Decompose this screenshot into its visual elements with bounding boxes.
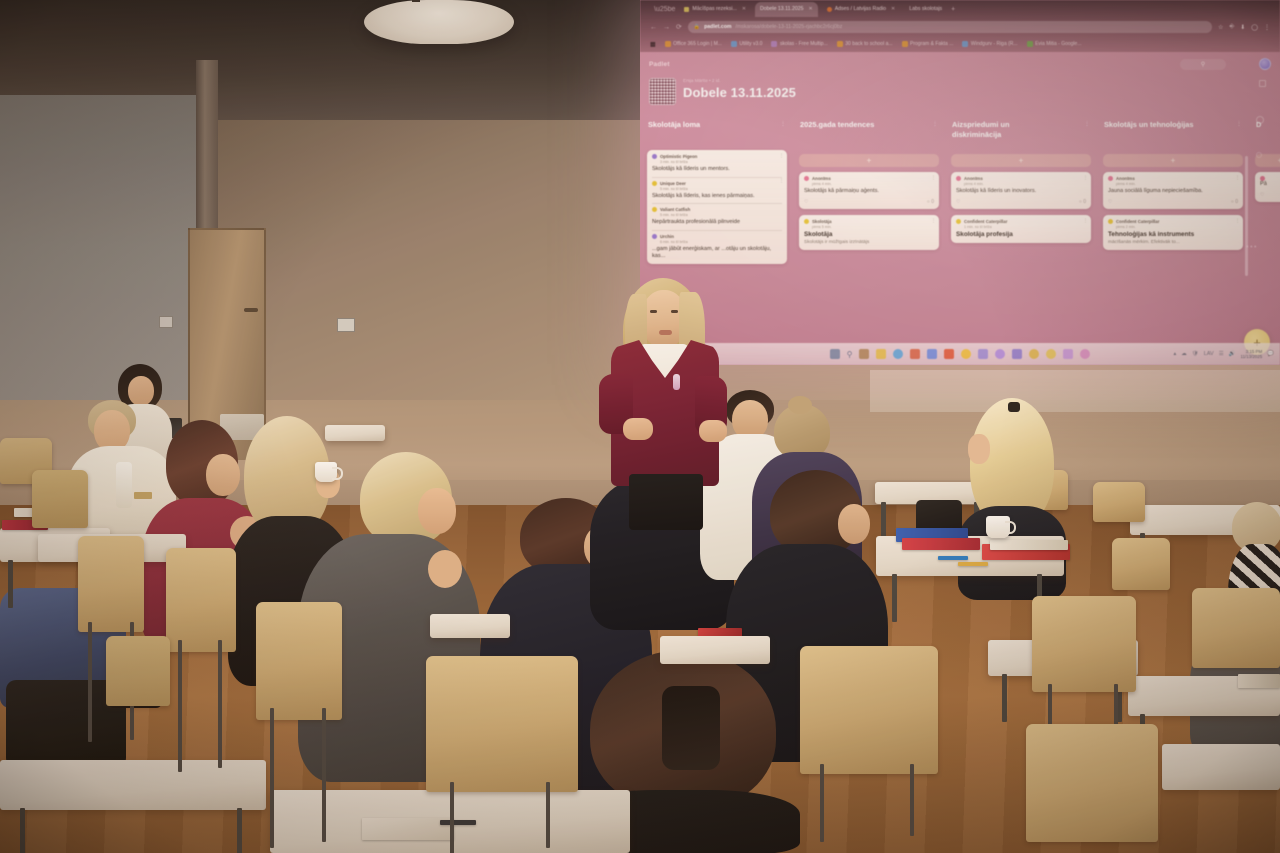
close-icon[interactable]: ✕ — [742, 6, 746, 12]
chair — [256, 602, 342, 720]
forward-icon[interactable]: → — [663, 24, 670, 31]
card-author: Skolotāja — [812, 219, 832, 224]
card-timestamp: pirms 4 min. — [964, 182, 1086, 186]
card-author: Anonīms — [812, 176, 831, 181]
add-card-button[interactable]: + — [1103, 154, 1243, 167]
downloads-icon[interactable]: ⬇ — [1240, 24, 1245, 31]
card-menu-icon[interactable]: ⋮ — [1083, 175, 1088, 181]
music-icon[interactable] — [1063, 349, 1073, 359]
card-timestamp: pirms 4 min. — [812, 182, 934, 186]
volume-icon[interactable]: 🔊 — [1229, 351, 1236, 357]
author-avatar — [652, 181, 657, 186]
column-menu-icon[interactable]: ⋮ — [1236, 120, 1242, 127]
reload-icon[interactable]: ⟳ — [676, 23, 682, 31]
author-avatar — [652, 234, 657, 239]
language-icon[interactable]: LAV — [1204, 351, 1214, 357]
padlet-column-1: 2025.gada tendences ⋮ + ⋮ Anonīms pirms … — [796, 120, 942, 365]
bookmark-0[interactable]: Office 365 Login | M... — [665, 41, 722, 47]
padlet-card[interactable]: ⋮ Skolotāja pirms 5 min. Skolotāja Skolo… — [799, 215, 939, 251]
padlet-card[interactable]: ⋮ Confident Caterpillar 1 min. no šī brī… — [951, 215, 1091, 243]
chair — [1192, 588, 1280, 668]
bookmarks-bar: ▦ Office 365 Login | M... Utility v3.0 s… — [640, 36, 1280, 52]
card-timestamp: pirms 4 min. — [1116, 182, 1238, 186]
task-view-icon[interactable] — [859, 349, 869, 359]
extensions-icon[interactable]: ⎆ — [1229, 24, 1234, 31]
chrome-actions: ☆ ⎆ ⬇ ◯ ⋮ — [1218, 24, 1270, 31]
add-card-button[interactable]: + — [1255, 154, 1280, 167]
card-subtitle: Skolotājs ir mūžīgais izzīnātājs — [804, 240, 934, 246]
table — [660, 636, 770, 664]
browser-chrome: \u25be Mācīšpas rezeksi... ✕ Dobele 13.1… — [640, 0, 1280, 52]
padlet-card[interactable]: ⋮ Anonīms pirms 4 min. Jauna sociālā līg… — [1103, 172, 1243, 209]
padlet-column-2: Aizspriedumi un diskriminācija ⋮ + ⋮ Ano… — [948, 120, 1094, 365]
notebook-red — [902, 538, 980, 550]
comment-count[interactable]: ○ 0 — [927, 199, 934, 205]
padlet-card[interactable]: ⋮ Anonīms pirms 4 min. Skolotājs kā līde… — [951, 172, 1091, 209]
photos-icon[interactable] — [910, 349, 920, 359]
extra-app-icon[interactable] — [1080, 349, 1090, 359]
onedrive-icon[interactable] — [1029, 349, 1039, 359]
card-body: ...gam jābūt enerģiskam, ar ...otāju un … — [652, 246, 782, 261]
presenter-right-hand — [699, 420, 727, 442]
door-handle-icon — [244, 308, 258, 312]
card-timestamp: pirms 5 min. — [812, 225, 934, 229]
card-footer: ♡ ○ 0 — [1108, 199, 1238, 205]
card-timestamp: 5 min. no šī brīža — [660, 187, 782, 191]
teams-icon[interactable] — [978, 349, 988, 359]
column-header: Aizspriedumi un diskriminācija ⋮ — [948, 120, 1094, 150]
card-title: Skolotāja — [804, 231, 934, 239]
card-title: Tehnoloģijas kā instruments — [1108, 231, 1238, 239]
bookmark-favicon — [731, 41, 737, 47]
presenter-trousers — [629, 474, 703, 530]
system-tray: ▴ ☁ 🛡 LAV ☰ 🔊 3:15 PM 11/13/2025 💬 — [1173, 343, 1274, 365]
board-title: Dobele 13.11.2025 — [683, 85, 796, 100]
chrome-icon[interactable] — [961, 349, 971, 359]
card-author-row: Anonīms — [1108, 176, 1238, 181]
card-menu-icon[interactable]: ⋮ — [931, 175, 936, 181]
bookmark-favicon — [771, 41, 777, 47]
mail-icon[interactable] — [893, 349, 903, 359]
pen — [938, 556, 968, 560]
author-avatar — [652, 207, 657, 212]
tab-favicon — [684, 7, 689, 12]
column-title: Skolotāja loma — [648, 120, 700, 130]
classroom-scene: \u25be Mācīšpas rezeksi... ✕ Dobele 13.1… — [0, 0, 1280, 853]
search-icon[interactable]: ⚲ — [847, 350, 853, 359]
author-avatar — [652, 154, 657, 159]
bookmark-label: Windgurv - Riga (R... — [971, 41, 1018, 47]
new-tab-button[interactable]: + — [951, 6, 955, 13]
card-menu-icon[interactable]: ⋮ — [1083, 218, 1088, 224]
card-title: Skolotāja profesija — [956, 231, 1086, 239]
bookmark-favicon — [962, 41, 968, 47]
card-timestamp: pirms 2 min. — [1116, 225, 1238, 229]
card-menu-icon[interactable]: ⋮ — [1235, 218, 1240, 224]
bookmark-favicon — [1027, 41, 1033, 47]
eye — [650, 310, 657, 313]
chair — [106, 636, 170, 706]
wall-plate-icon — [159, 316, 173, 328]
card-author: Anonīms — [964, 176, 983, 181]
tab-list-chevron-icon[interactable]: \u25be — [654, 6, 675, 13]
url-path: /mskarosa/dobele-13-11-2025-rjachbc2r6cj… — [736, 24, 843, 30]
card-footer: ♡ — [1260, 192, 1280, 198]
card-author-row: Anonīms — [956, 176, 1086, 181]
card-subtitle: mācīšanās mērkim. Efektivāk to... — [1108, 240, 1238, 246]
tab-label: Adses / Latvijas Radio — [835, 6, 886, 12]
card-body: Pā — [1260, 181, 1280, 189]
mug — [986, 516, 1010, 538]
column-title: Aizspriedumi un diskriminācija — [952, 120, 1060, 140]
add-card-button[interactable]: + — [951, 154, 1091, 167]
bookmark-label: skolas - Free Multip... — [780, 41, 828, 47]
chair — [800, 646, 938, 774]
tab-label: Mācīšpas rezeksi... — [692, 6, 736, 12]
url-host: padlet.com — [704, 24, 731, 30]
menu-icon[interactable]: ⋮ — [1264, 24, 1270, 31]
chair — [426, 656, 578, 792]
card-body: Nepārtraukta profesionālā pilnveide — [652, 219, 782, 227]
bookmark-label: Utility v3.0 — [739, 41, 762, 47]
chair — [1026, 724, 1158, 842]
board-search-input[interactable]: ⚲ — [1180, 59, 1226, 70]
padlet-columns: Skolotāja loma ⋮ ⋮ Optimistic Pigeon 3 m… — [644, 120, 1280, 365]
lapel-pin-icon — [673, 374, 680, 390]
bookmark-label: Program & Fakta ... — [910, 41, 953, 47]
card-menu-icon[interactable]: ⋮ — [779, 153, 784, 159]
chair — [1032, 596, 1136, 692]
column-scrollbar[interactable] — [1245, 156, 1248, 276]
card-body: Skolotājs kā līderis un mentors. — [652, 166, 782, 174]
column-title: D — [1256, 120, 1261, 130]
browser-tab-2[interactable]: Adses / Latvijas Radio ✕ — [822, 2, 901, 17]
file-explorer-icon[interactable] — [876, 349, 886, 359]
card-timestamp: 5 min. no šī brīža — [660, 213, 782, 217]
chair — [78, 536, 144, 632]
table — [1162, 744, 1280, 790]
browser-tabstrip: \u25be Mācīšpas rezeksi... ✕ Dobele 13.1… — [640, 0, 1280, 18]
wall-upper-strip — [870, 370, 1280, 412]
bookmark-1[interactable]: Utility v3.0 — [731, 41, 763, 47]
address-bar[interactable]: 🔒 padlet.com/mskarosa/dobele-13-11-2025-… — [688, 21, 1212, 33]
settings-icon[interactable] — [1046, 349, 1056, 359]
browser-tab-0[interactable]: Mācīšpas rezeksi... ✕ — [679, 2, 751, 17]
browser-tab-3[interactable]: Labs skolotajs — [904, 2, 947, 17]
projection-screen: \u25be Mācīšpas rezeksi... ✕ Dobele 13.1… — [640, 0, 1280, 365]
card-body: Skolotājs kā līderis, kas ienes pārmaiņa… — [652, 193, 782, 201]
notebook-white — [990, 540, 1068, 550]
card-author-row: Anonīms — [804, 176, 934, 181]
card-menu-icon[interactable]: ⋮ — [1235, 175, 1240, 181]
card-author-row: Valiant Catfish — [652, 207, 782, 212]
notebook — [1238, 674, 1280, 688]
tab-favicon — [827, 7, 832, 12]
author-avatar — [956, 219, 961, 224]
column-header: 2025.gada tendences ⋮ — [796, 120, 942, 150]
card-footer: ♡ ○ 0 — [804, 199, 934, 205]
profile-icon[interactable]: ◯ — [1251, 24, 1258, 31]
divider — [652, 230, 782, 231]
column-header: Skolotāja loma ⋮ — [644, 120, 790, 150]
wall-switch-icon — [337, 318, 355, 332]
like-icon[interactable]: ♡ — [956, 199, 960, 205]
eye — [671, 310, 678, 313]
card-menu-icon[interactable]: ⋮ — [931, 218, 936, 224]
tab-label: Dobele 13.11.2025 — [760, 6, 803, 12]
column-header: D — [1252, 120, 1280, 150]
padlet-app: Padlet Ersja Mārīte • 2 id. Dobele 13.11… — [640, 52, 1280, 365]
column-menu-icon[interactable]: ⋮ — [780, 120, 786, 127]
presenter-left-hand — [623, 418, 653, 440]
card-menu-icon[interactable]: ⋮ — [779, 178, 784, 184]
divider — [652, 177, 782, 178]
author-avatar — [804, 219, 809, 224]
avatar[interactable] — [1259, 58, 1271, 70]
chair — [1112, 538, 1170, 590]
chair — [32, 470, 88, 528]
bookmark-favicon — [837, 41, 843, 47]
chair — [1093, 482, 1145, 522]
divider — [652, 203, 782, 204]
author-avatar — [956, 176, 961, 181]
column-header: Skolotājs un tehnoloģijas ⋮ — [1100, 120, 1246, 150]
chevron-up-icon[interactable]: ▴ — [1173, 351, 1176, 357]
windows-taskbar: ⚲ ▴ ☁ 🛡 LAV ☰ 🔊 3:15 PM — [640, 343, 1280, 365]
word-icon[interactable] — [1012, 349, 1022, 359]
author-avatar — [1108, 219, 1113, 224]
hair-clip-icon — [1008, 402, 1020, 412]
back-icon[interactable]: ← — [650, 24, 657, 31]
bookmark-favicon — [665, 41, 671, 47]
comment-count[interactable]: ○ 0 — [1079, 199, 1086, 205]
security-icon[interactable]: 🛡 — [1192, 351, 1199, 357]
card-timestamp: 1 min. no šī brīža — [964, 225, 1086, 229]
bookmark-label: Office 365 Login | M... — [673, 41, 722, 47]
card-author: Urchin — [660, 234, 674, 239]
store-icon[interactable] — [995, 349, 1005, 359]
card-author: Confident Caterpillar — [964, 219, 1007, 224]
card-author: Optimistic Pigeon — [660, 154, 697, 159]
pencil — [958, 562, 988, 566]
card-body: Skolotājs kā līderis un inovators. — [956, 188, 1086, 196]
author-avatar — [804, 176, 809, 181]
padlet-card[interactable]: ⋮ Anonīms pirms 4 min. Skolotājs kā pārm… — [799, 172, 939, 209]
browser-omnibar: ← → ⟳ 🔒 padlet.com/mskarosa/dobele-13-11… — [640, 18, 1280, 36]
lock-icon: 🔒 — [694, 24, 700, 30]
hair-clip-icon — [662, 686, 720, 770]
column-title: 2025.gada tendences — [800, 120, 874, 130]
add-card-button[interactable]: + — [799, 154, 939, 167]
padlet-board-header: Ersja Mārīte • 2 id. Dobele 13.11.2025 — [649, 78, 796, 105]
expand-icon[interactable] — [1259, 80, 1266, 87]
bookmark-4[interactable]: Program & Fakta ... — [902, 41, 954, 47]
card-author-row: Skolotāja — [804, 219, 934, 224]
like-icon[interactable]: ♡ — [1260, 192, 1264, 198]
bookmark-3[interactable]: 30 back to school a... — [837, 41, 893, 47]
bookmark-2[interactable]: skolas - Free Multip... — [771, 41, 827, 47]
bookmark-6[interactable]: Evia Mitia - Google... — [1027, 41, 1082, 47]
close-icon[interactable]: ✕ — [809, 6, 813, 12]
browser-tab-1[interactable]: Dobele 13.11.2025 ✕ — [755, 2, 818, 17]
padlet-card[interactable]: ⋮ Optimistic Pigeon 3 min. no šī brīža S… — [647, 150, 787, 264]
card-body: Skolotājs kā pārmaiņu aģents. — [804, 188, 934, 196]
column-menu-icon[interactable]: ⋮ — [1084, 120, 1090, 127]
card-author: Confident Caterpillar — [1116, 219, 1159, 224]
card-footer: ♡ ○ 0 — [956, 199, 1086, 205]
table — [0, 760, 266, 810]
star-icon[interactable]: ☆ — [1218, 24, 1223, 31]
taskbar-clock[interactable]: 3:15 PM 11/13/2025 — [1240, 349, 1262, 360]
card-author-row: Confident Caterpillar — [1108, 219, 1238, 224]
card-author-row: Unique Deer — [652, 181, 782, 186]
close-icon[interactable]: ✕ — [891, 6, 895, 12]
padlet-column-3: Skolotājs un tehnoloģijas ⋮ + ⋮ Anonīms … — [1100, 120, 1246, 365]
like-icon[interactable]: ♡ — [804, 199, 808, 205]
card-author: Anonīms — [1116, 176, 1135, 181]
bookmark-label: Evia Mitia - Google... — [1035, 41, 1081, 47]
card-author-row: Confident Caterpillar — [956, 219, 1086, 224]
bookmark-favicon — [902, 41, 908, 47]
column-menu-icon[interactable]: ⋮ — [932, 120, 938, 127]
wifi-icon[interactable]: ☰ — [1219, 351, 1224, 357]
like-icon[interactable]: ♡ — [1108, 199, 1112, 205]
mouth — [659, 330, 672, 335]
card-author: Unique Deer — [660, 181, 686, 186]
author-avatar — [1108, 176, 1113, 181]
notifications-icon[interactable]: 💬 — [1267, 351, 1274, 357]
card-timestamp: 6 min. no šī brīža — [660, 240, 782, 244]
card-author: Valiant Catfish — [660, 207, 690, 212]
qr-code-icon[interactable] — [649, 78, 676, 105]
tab-label: Labs skolotajs — [909, 6, 942, 12]
padlet-card[interactable]: ⋮ Confident Caterpillar pirms 2 min. Teh… — [1103, 215, 1243, 251]
padlet-card[interactable]: Pā ♡ — [1255, 172, 1280, 202]
clock-date: 11/13/2025 — [1240, 354, 1262, 360]
bookmark-5[interactable]: Windgurv - Riga (R... — [962, 41, 1017, 47]
table — [430, 614, 510, 638]
ceiling-light-fixture — [364, 0, 514, 44]
card-body: Jauna sociālā līguma nepieciešamība. — [1108, 188, 1238, 196]
card-author-row: Optimistic Pigeon — [652, 154, 782, 159]
chair — [166, 548, 236, 652]
presenter — [595, 278, 735, 528]
pen — [440, 820, 476, 825]
apps-grid-icon[interactable]: ▦ — [650, 41, 656, 48]
windows-start-icon[interactable] — [830, 349, 840, 359]
column-title: Skolotājs un tehnoloģijas — [1104, 120, 1194, 130]
office-icon[interactable] — [944, 349, 954, 359]
card-timestamp: 3 min. no šī brīža — [660, 160, 782, 164]
padlet-logo[interactable]: Padlet — [649, 61, 670, 68]
card-author-row: Urchin — [652, 234, 782, 239]
excel-icon[interactable] — [927, 349, 937, 359]
comment-count[interactable]: ○ 0 — [1231, 199, 1238, 205]
board-owner-meta: Ersja Mārīte • 2 id. — [683, 78, 796, 83]
bookmark-label: 30 back to school a... — [845, 41, 892, 47]
onedrive-tray-icon[interactable]: ☁ — [1181, 351, 1187, 357]
